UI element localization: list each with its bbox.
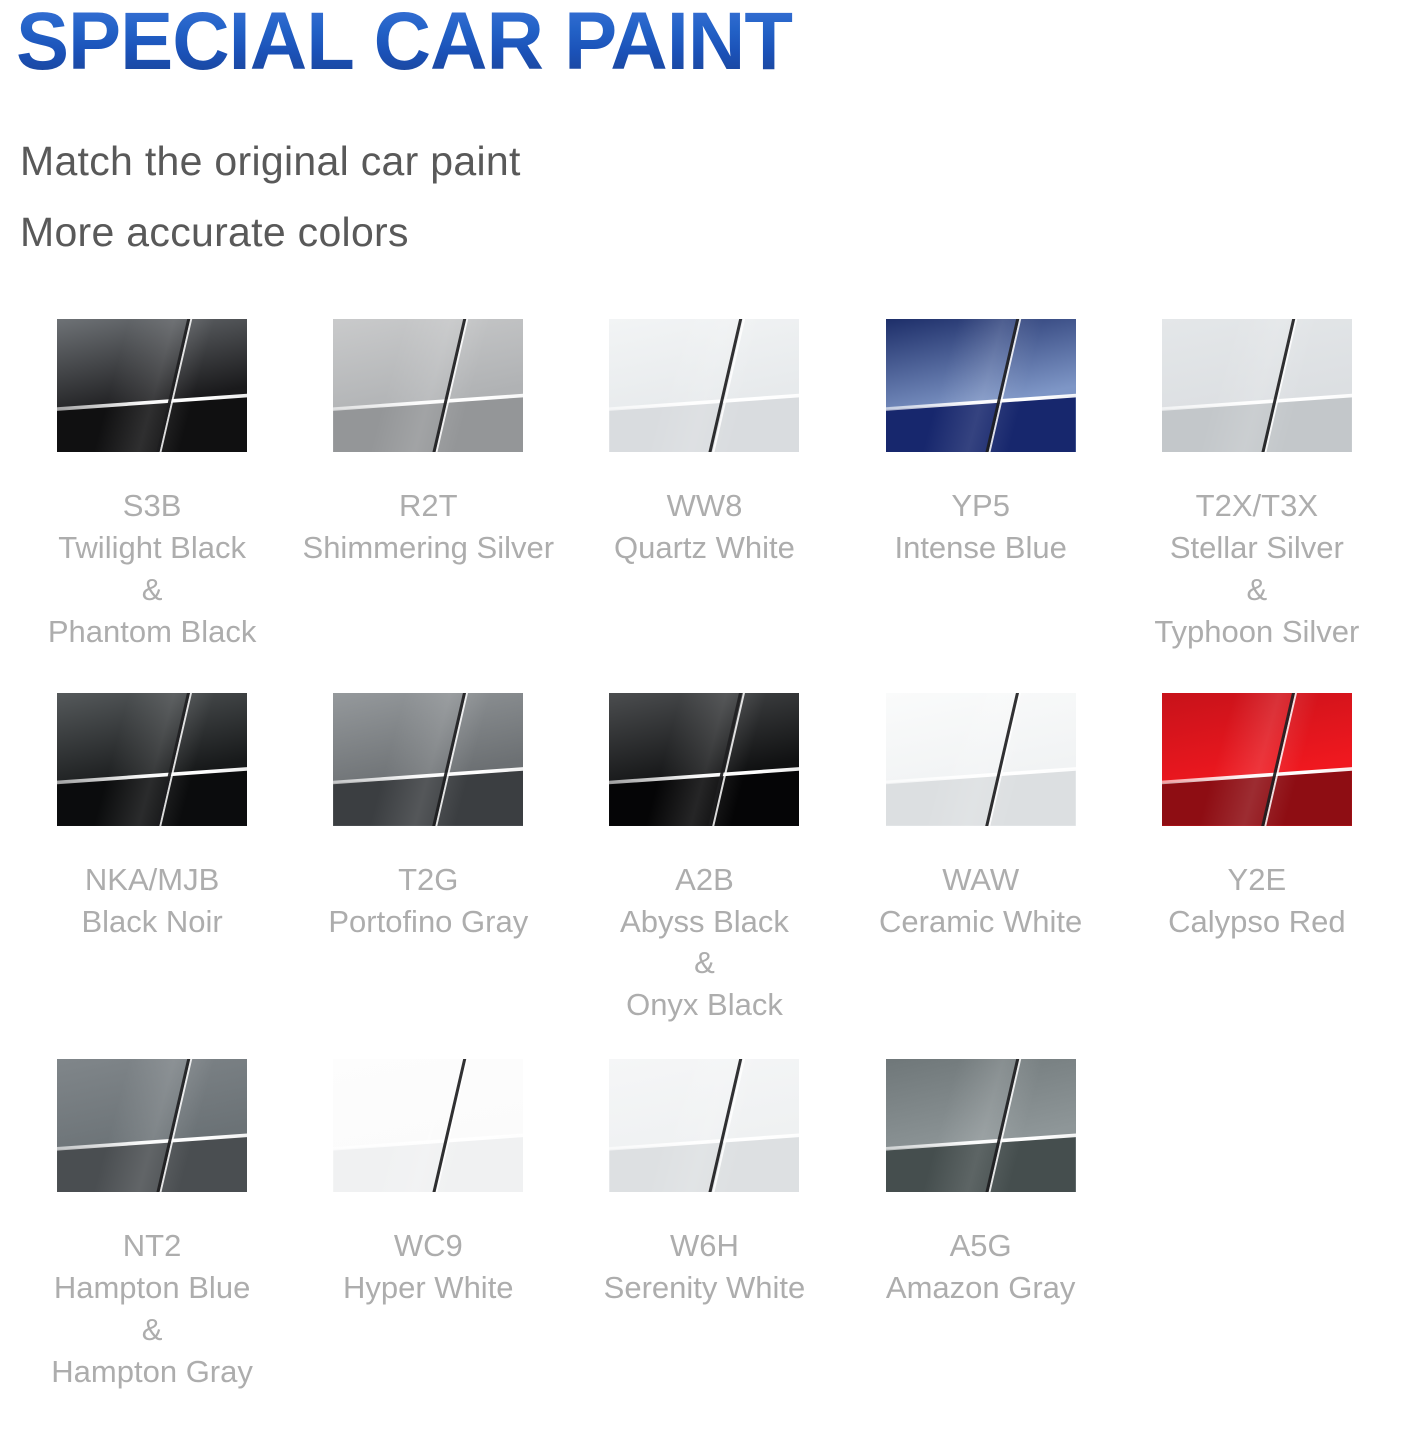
- paint-swatch-image: [1162, 693, 1352, 826]
- swatch-cell[interactable]: T2GPortofino Gray: [290, 693, 566, 1026]
- paint-code: YP5: [894, 485, 1066, 527]
- paint-name-line: Typhoon Silver: [1154, 611, 1359, 653]
- paint-name-line: &: [51, 1309, 253, 1351]
- subtitle-line-1: Match the original car paint: [20, 126, 1395, 197]
- paint-code: T2G: [328, 859, 528, 901]
- paint-name-line: Onyx Black: [620, 984, 789, 1026]
- paint-swatch-caption: WW8Quartz White: [614, 485, 795, 569]
- paint-swatch-caption: WAWCeramic White: [879, 859, 1082, 943]
- paint-swatch-image: [57, 319, 247, 452]
- paint-name-line: Hampton Gray: [51, 1351, 253, 1393]
- paint-name-line: &: [620, 942, 789, 984]
- paint-name-line: Shimmering Silver: [303, 527, 555, 569]
- paint-swatch-image: [609, 319, 799, 452]
- paint-swatch-image: [609, 1059, 799, 1192]
- paint-swatch-image: [886, 693, 1076, 826]
- swatch-cell[interactable]: W6HSerenity White: [566, 1059, 842, 1392]
- swatch-cell[interactable]: Y2ECalypso Red: [1119, 693, 1395, 1026]
- subtitle-block: Match the original car paint More accura…: [14, 126, 1395, 267]
- paint-code: A5G: [886, 1225, 1076, 1267]
- swatch-cell[interactable]: NKA/MJBBlack Noir: [14, 693, 290, 1026]
- swatch-row: NKA/MJBBlack NoirT2GPortofino GrayA2BAby…: [14, 693, 1395, 1026]
- paint-name-line: Stellar Silver: [1154, 527, 1359, 569]
- swatch-cell[interactable]: A5GAmazon Gray: [843, 1059, 1119, 1392]
- paint-swatch-image: [609, 693, 799, 826]
- swatch-cell[interactable]: WC9Hyper White: [290, 1059, 566, 1392]
- paint-swatch-grid: S3BTwilight Black&Phantom BlackR2TShimme…: [14, 319, 1395, 1392]
- paint-name-line: &: [1154, 569, 1359, 611]
- paint-name-line: Quartz White: [614, 527, 795, 569]
- paint-swatch-caption: S3BTwilight Black&Phantom Black: [48, 485, 257, 652]
- paint-code: S3B: [48, 485, 257, 527]
- paint-swatch-caption: NKA/MJBBlack Noir: [81, 859, 222, 943]
- paint-name-line: Twilight Black: [48, 527, 257, 569]
- paint-code: W6H: [604, 1225, 806, 1267]
- paint-code: NT2: [51, 1225, 253, 1267]
- paint-name-line: Ceramic White: [879, 901, 1082, 943]
- paint-swatch-caption: A2BAbyss Black&Onyx Black: [620, 859, 789, 1026]
- paint-swatch-caption: Y2ECalypso Red: [1168, 859, 1345, 943]
- swatch-cell[interactable]: S3BTwilight Black&Phantom Black: [14, 319, 290, 652]
- paint-name-line: Portofino Gray: [328, 901, 528, 943]
- swatch-cell[interactable]: WAWCeramic White: [843, 693, 1119, 1026]
- paint-swatch-caption: WC9Hyper White: [343, 1225, 514, 1309]
- paint-code: Y2E: [1168, 859, 1345, 901]
- paint-name-line: Hampton Blue: [51, 1267, 253, 1309]
- paint-swatch-image: [1162, 319, 1352, 452]
- paint-name-line: Black Noir: [81, 901, 222, 943]
- paint-name-line: Hyper White: [343, 1267, 514, 1309]
- page-title: SPECIAL CAR PAINT: [14, 2, 1354, 82]
- paint-code: WAW: [879, 859, 1082, 901]
- paint-swatch-caption: T2GPortofino Gray: [328, 859, 528, 943]
- paint-name-line: Calypso Red: [1168, 901, 1345, 943]
- swatch-cell[interactable]: WW8Quartz White: [566, 319, 842, 652]
- paint-code: NKA/MJB: [81, 859, 222, 901]
- paint-swatch-image: [57, 693, 247, 826]
- swatch-cell[interactable]: T2X/T3XStellar Silver&Typhoon Silver: [1119, 319, 1395, 652]
- swatch-row: S3BTwilight Black&Phantom BlackR2TShimme…: [14, 319, 1395, 652]
- paint-code: A2B: [620, 859, 789, 901]
- paint-name-line: Amazon Gray: [886, 1267, 1076, 1309]
- swatch-cell[interactable]: YP5Intense Blue: [843, 319, 1119, 652]
- swatch-cell[interactable]: A2BAbyss Black&Onyx Black: [566, 693, 842, 1026]
- page-header: SPECIAL CAR PAINT Match the original car…: [14, 0, 1395, 267]
- paint-name-line: Phantom Black: [48, 611, 257, 653]
- paint-name-line: &: [48, 569, 257, 611]
- paint-name-line: Serenity White: [604, 1267, 806, 1309]
- paint-code: WW8: [614, 485, 795, 527]
- paint-swatch-caption: R2TShimmering Silver: [303, 485, 555, 569]
- paint-name-line: Abyss Black: [620, 901, 789, 943]
- paint-swatch-image: [886, 1059, 1076, 1192]
- paint-swatch-caption: YP5Intense Blue: [894, 485, 1066, 569]
- subtitle-line-2: More accurate colors: [20, 197, 1395, 268]
- paint-code: T2X/T3X: [1154, 485, 1359, 527]
- paint-swatch-image: [333, 319, 523, 452]
- swatch-cell[interactable]: NT2Hampton Blue&Hampton Gray: [14, 1059, 290, 1392]
- paint-swatch-image: [886, 319, 1076, 452]
- paint-swatch-caption: W6HSerenity White: [604, 1225, 806, 1309]
- swatch-row: NT2Hampton Blue&Hampton GrayWC9Hyper Whi…: [14, 1059, 1395, 1392]
- paint-swatch-caption: NT2Hampton Blue&Hampton Gray: [51, 1225, 253, 1392]
- paint-swatch-caption: T2X/T3XStellar Silver&Typhoon Silver: [1154, 485, 1359, 652]
- paint-swatch-image: [57, 1059, 247, 1192]
- swatch-cell[interactable]: R2TShimmering Silver: [290, 319, 566, 652]
- paint-swatch-image: [333, 693, 523, 826]
- paint-code: WC9: [343, 1225, 514, 1267]
- paint-code: R2T: [303, 485, 555, 527]
- paint-swatch-image: [333, 1059, 523, 1192]
- paint-catalog-page: SPECIAL CAR PAINT Match the original car…: [0, 0, 1409, 1433]
- paint-swatch-caption: A5GAmazon Gray: [886, 1225, 1076, 1309]
- paint-name-line: Intense Blue: [894, 527, 1066, 569]
